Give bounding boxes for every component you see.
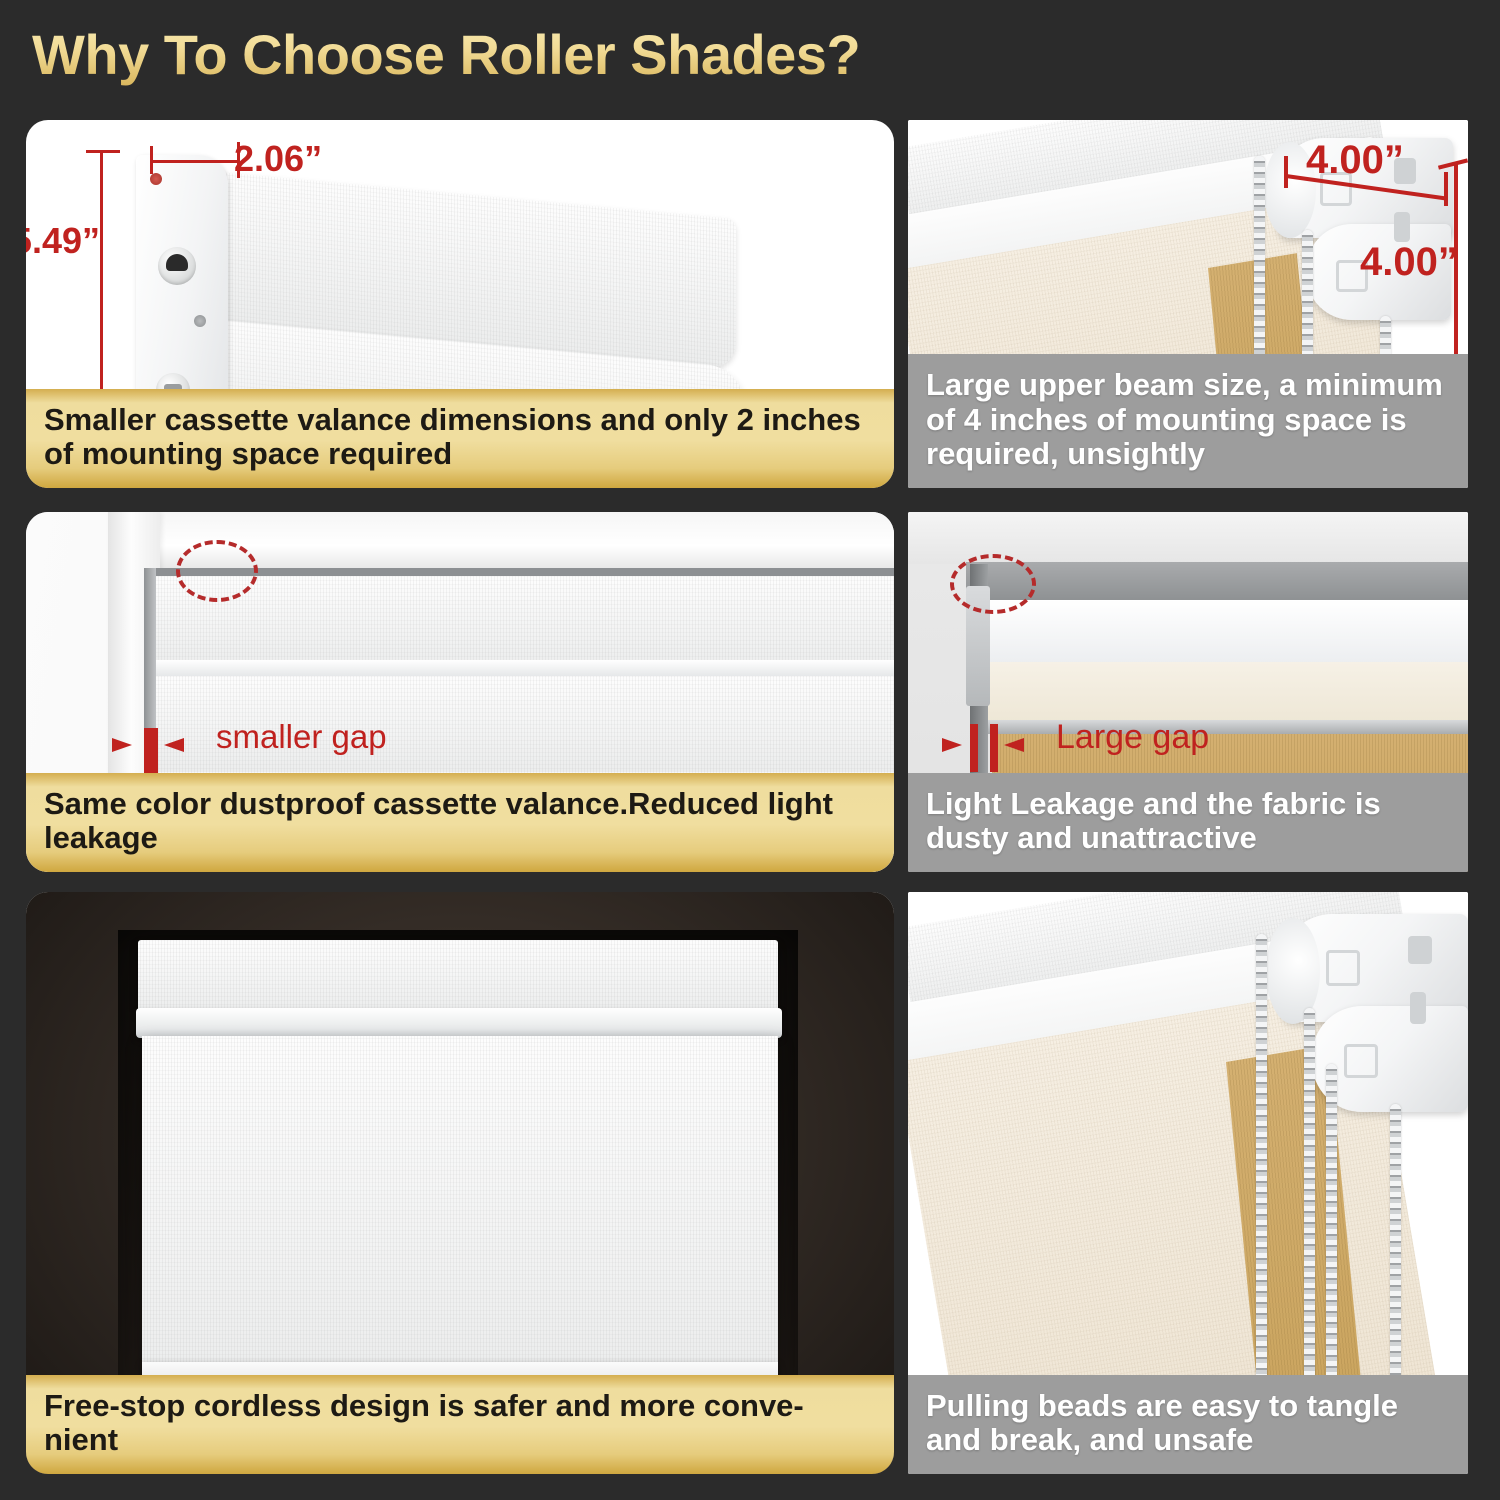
- height-dimension-label: 5.49”: [26, 220, 100, 262]
- mount-screw-icon: [150, 173, 162, 185]
- gap-callout-label: smaller gap: [216, 718, 387, 756]
- gap-arrow-right-icon: [1002, 734, 1048, 756]
- panel-caption: Light Leakage and the fabric is dusty an…: [908, 773, 1468, 872]
- gap-marker-b: [990, 724, 998, 772]
- panel-caption: Same color dustproof cassette valance.Re…: [26, 773, 894, 872]
- gap-marker-a: [970, 724, 978, 772]
- panel-caption: Large upper beam size, a minimum of 4 in…: [908, 354, 1468, 488]
- screw-icon: [194, 315, 206, 327]
- panel-pulling-beads: Pulling beads are easy to tangle and bre…: [908, 892, 1468, 1474]
- beam-height-label: 4.00”: [1360, 240, 1458, 285]
- gap-arrow-left-icon: [86, 734, 134, 756]
- valance-lip: [136, 1008, 782, 1038]
- cassette-top-edge: [156, 568, 894, 576]
- panel-smaller-cassette: 2.06” 5.49” Smaller cassette valance dim…: [26, 120, 894, 488]
- cassette-valance-face: [156, 576, 894, 668]
- page-title: Why To Choose Roller Shades?: [32, 22, 860, 87]
- bracket-slot-2-icon: [1394, 212, 1410, 242]
- bracket-slot-2-icon: [1410, 992, 1426, 1024]
- panel-light-leakage: Large gap Light Leakage and the fabric i…: [908, 512, 1468, 872]
- width-dimension-label: 2.06”: [234, 138, 322, 180]
- panel-large-upper-beam: 4.00” 4.00” Large upper beam size, a min…: [908, 120, 1468, 488]
- height-dim-tick-top: [86, 150, 120, 153]
- gap-arrow-right-icon: [162, 734, 210, 756]
- release-knob-icon: [158, 247, 196, 285]
- panel-dustproof-cassette: smaller gap Same color dustproof cassett…: [26, 512, 894, 872]
- bead-chain-back: [1304, 1008, 1315, 1438]
- bracket-emboss-icon: [1326, 950, 1360, 986]
- beam-width-label: 4.00”: [1306, 138, 1404, 183]
- beam-width-tick-left: [1284, 156, 1288, 188]
- highlight-circle-icon: [176, 540, 258, 602]
- panel-caption: Pulling beads are easy to tangle and bre…: [908, 1375, 1468, 1474]
- beam-width-tick-right: [1444, 172, 1448, 206]
- panel-cordless-design: Free-stop cordless design is safer and m…: [26, 892, 894, 1474]
- white-roller-tube: [978, 600, 1468, 664]
- infographic-root: Why To Choose Roller Shades? 2.06”: [0, 0, 1500, 1500]
- cassette-valance: [138, 940, 778, 1012]
- panel-caption: Smaller cassette valance dimensions and …: [26, 389, 894, 488]
- width-dim-line: [150, 160, 240, 163]
- highlight-circle-icon: [950, 554, 1036, 614]
- gap-arrow-left-icon: [918, 734, 964, 756]
- bead-chain-front: [1256, 934, 1267, 1434]
- dark-head-rail: [966, 562, 1468, 602]
- gap-callout-label: Large gap: [1056, 718, 1209, 757]
- valance-lip: [156, 660, 894, 676]
- shade-fabric: [142, 1036, 778, 1366]
- width-dim-tick-left: [150, 146, 153, 174]
- panel-caption: Free-stop cordless design is safer and m…: [26, 1375, 894, 1474]
- bracket-emboss-2-icon: [1344, 1044, 1378, 1078]
- bracket-slot-icon: [1408, 936, 1432, 964]
- cream-fabric-band: [984, 662, 1468, 722]
